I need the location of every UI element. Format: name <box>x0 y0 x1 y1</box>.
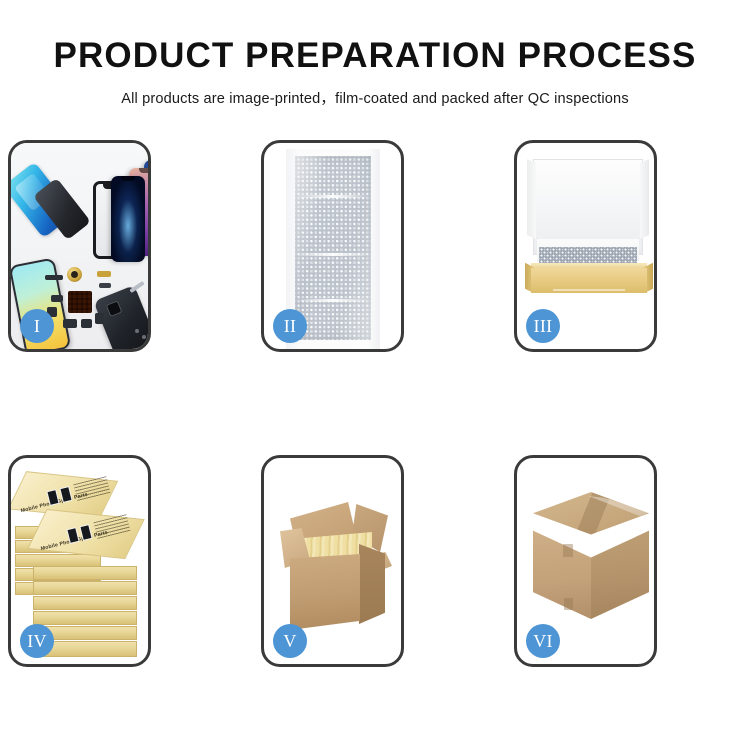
page-title: PRODUCT PREPARATION PROCESS <box>0 0 750 76</box>
step-badge-1: I <box>20 309 54 343</box>
carton-front-panel-icon <box>290 554 360 630</box>
box-lid-left-flap-icon <box>527 159 536 239</box>
carton-handle-tab-icon <box>564 598 573 610</box>
bubble-grid-icon <box>295 156 371 340</box>
stacked-box-slab <box>33 596 137 610</box>
wrap-seam-icon <box>295 195 371 198</box>
ic-chip-icon <box>68 291 92 313</box>
step-panel-5[interactable]: V <box>261 455 404 667</box>
page-subtitle: All products are image-printed，film-coat… <box>0 76 750 108</box>
small-module-icon <box>51 295 63 302</box>
box-lid-right-flap-icon <box>640 159 649 239</box>
stacked-box-slab <box>33 581 137 595</box>
wrap-seam-icon <box>295 253 371 256</box>
step-panel-6[interactable]: VI <box>514 455 657 667</box>
step-panel-1[interactable]: I <box>8 140 151 352</box>
sealed-carton-front-icon <box>533 523 591 619</box>
connector-icon <box>97 271 111 277</box>
flex-cable-icon <box>45 275 63 280</box>
step-badge-4: IV <box>20 624 54 658</box>
step-badge-6: VI <box>526 624 560 658</box>
carton-handle-tab-icon <box>563 544 573 557</box>
box-front-panel-icon <box>531 268 647 293</box>
flex-cable-icon <box>99 283 111 288</box>
product-preparation-infographic: PRODUCT PREPARATION PROCESS All products… <box>0 0 750 750</box>
step-badge-5: V <box>273 624 307 658</box>
step-badge-3: III <box>526 309 560 343</box>
stacked-box-slab <box>33 611 137 625</box>
step-panel-4[interactable]: Mobile Phone Spare Parts Mobile Phone Sp… <box>8 455 151 667</box>
screw-icon <box>135 329 139 333</box>
screw-icon <box>142 335 146 339</box>
steps-grid: I II <box>8 140 742 680</box>
speaker-coil-icon <box>67 267 82 282</box>
sealed-carton-side-icon <box>591 523 649 619</box>
step-panel-2[interactable]: II <box>261 140 404 352</box>
vibrator-icon <box>81 319 92 328</box>
header: PRODUCT PREPARATION PROCESS All products… <box>0 0 750 108</box>
carton-side-panel-icon <box>359 544 385 624</box>
stacked-box-slab <box>33 566 137 580</box>
step-badge-2: II <box>273 309 307 343</box>
step-panel-3[interactable]: III <box>514 140 657 352</box>
wrap-seam-icon <box>295 299 371 302</box>
phone-dark-icon <box>111 176 145 262</box>
battery-connector-icon <box>63 319 77 328</box>
button-icon <box>95 313 104 324</box>
